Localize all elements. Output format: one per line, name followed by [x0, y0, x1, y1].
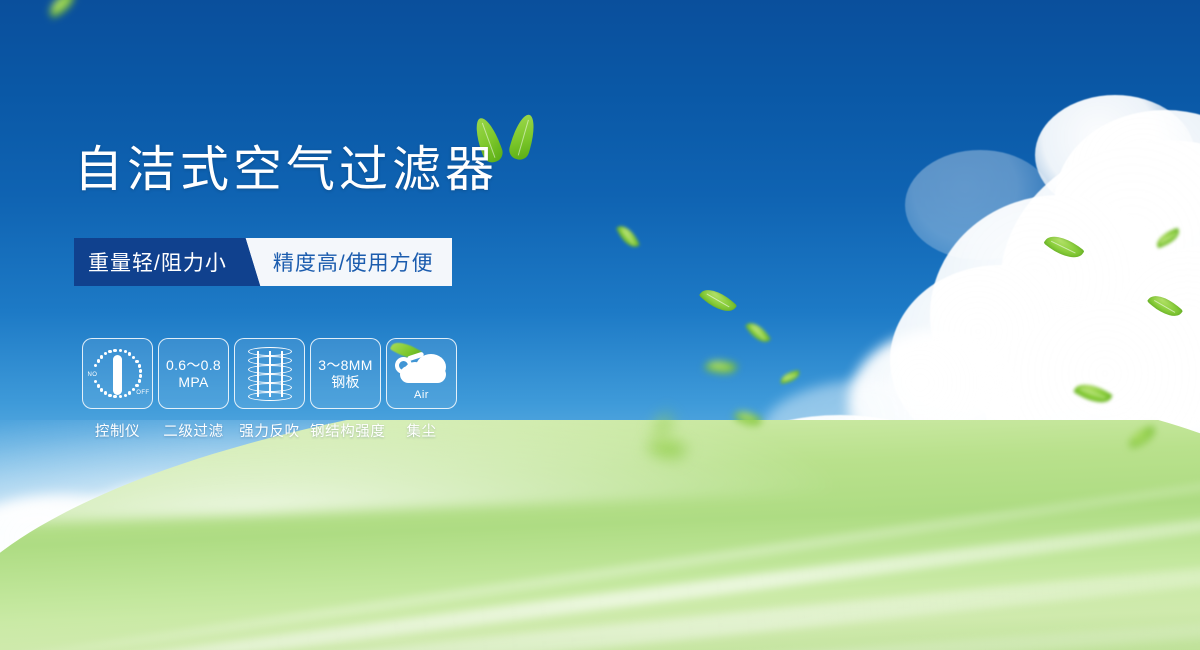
gauge-on-label: NO [88, 372, 98, 378]
feature-item-backblow[interactable]: 强力反吹 [234, 338, 305, 441]
gauge-tick [139, 374, 142, 377]
gauge-tick [135, 360, 138, 363]
gauge-tick [138, 364, 141, 367]
page-title: 自洁式空气过滤器 [74, 146, 498, 195]
feature-label: 集尘 [386, 420, 457, 441]
gauge-tick [138, 379, 141, 382]
gauge-tick [113, 349, 116, 352]
steel-plate-text-icon: 3～8MM 钢板 [318, 357, 372, 391]
gauge-tick [128, 352, 131, 355]
grass-field [0, 420, 1200, 650]
feature-list: NO OFF 控制仪 0.6～0.8 MPA 二级过滤 [82, 338, 457, 441]
feature-label: 控制仪 [82, 420, 153, 441]
gauge-tick [132, 388, 135, 391]
grass-hill [0, 420, 1200, 650]
feature-item-steel[interactable]: 3～8MM 钢板 钢结构强度 [310, 338, 381, 441]
gauge-tick [124, 394, 127, 397]
gauge-tick [100, 355, 103, 358]
gauge-tick [94, 364, 97, 367]
coil-filter-icon [248, 347, 292, 401]
coil-ring [248, 392, 292, 401]
feature-icon-box: 3～8MM 钢板 [310, 338, 381, 409]
pressure-text-icon: 0.6～0.8 MPA [166, 357, 221, 391]
coil-ring [248, 347, 292, 356]
grass-shade [0, 573, 1200, 650]
gauge-tick [135, 384, 138, 387]
tagline-bar: 重量轻/阻力小 精度高/使用方便 [74, 238, 452, 286]
gauge-tick [113, 395, 116, 398]
gauge-tick [97, 384, 100, 387]
gauge-tick [108, 350, 111, 353]
gauge-tick [124, 350, 127, 353]
gauge-icon: NO OFF [90, 346, 146, 402]
gauge-tick [100, 388, 103, 391]
coil-ring [248, 365, 292, 374]
tagline-divider [243, 238, 269, 286]
air-cloud-icon: Air [394, 350, 450, 398]
gauge-off-label: OFF [136, 390, 149, 396]
feature-icon-box [234, 338, 305, 409]
feature-label: 二级过滤 [158, 420, 229, 441]
tagline-primary: 重量轻/阻力小 [74, 238, 243, 286]
feature-icon-box: 0.6～0.8 MPA [158, 338, 229, 409]
gauge-tick [132, 356, 135, 359]
gauge-tick [104, 391, 107, 394]
feature-item-dust-collection[interactable]: Air 集尘 [386, 338, 457, 441]
gauge-needle [113, 355, 122, 395]
feature-icon-box: NO OFF [82, 338, 153, 409]
gauge-tick [139, 369, 142, 372]
product-banner: 自洁式空气过滤器 重量轻/阻力小 精度高/使用方便 NO OFF 控制仪 0.6… [0, 0, 1200, 650]
feature-item-pressure[interactable]: 0.6～0.8 MPA 二级过滤 [158, 338, 229, 441]
feature-item-control-gauge[interactable]: NO OFF 控制仪 [82, 338, 153, 441]
gauge-tick [97, 359, 100, 362]
gauge-tick [119, 349, 122, 352]
coil-ring [248, 374, 292, 383]
gauge-tick [94, 380, 97, 383]
feature-label: 强力反吹 [234, 420, 305, 441]
coil-ring [248, 356, 292, 365]
coil-ring [248, 383, 292, 392]
gauge-tick [128, 391, 131, 394]
feature-label: 钢结构强度 [310, 420, 381, 441]
air-label: Air [394, 389, 450, 401]
feature-icon-box: Air [386, 338, 457, 409]
gauge-tick [119, 395, 122, 398]
gauge-tick [104, 352, 107, 355]
gauge-tick [108, 394, 111, 397]
tagline-secondary: 精度高/使用方便 [269, 238, 452, 286]
